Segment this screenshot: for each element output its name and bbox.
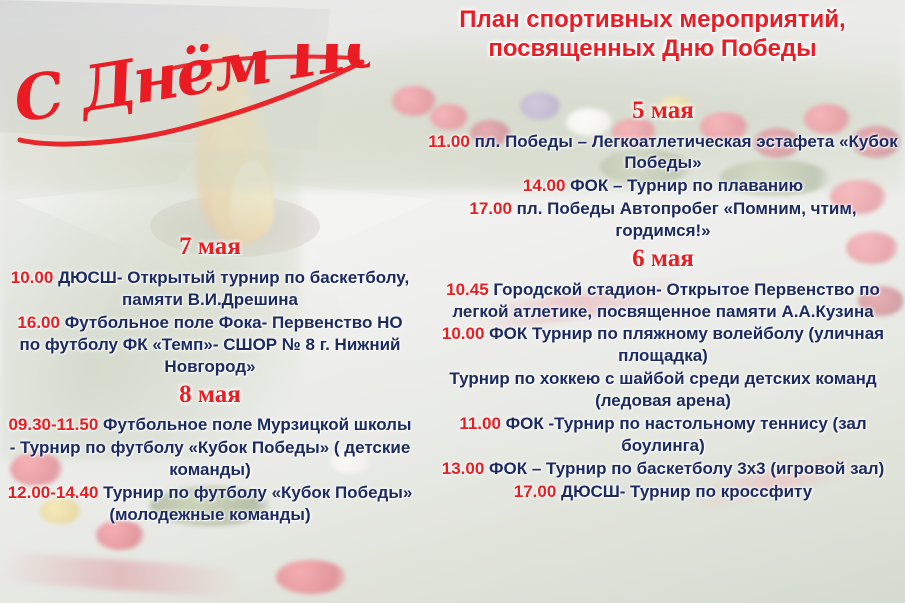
event-desc: пл. Победы – Легкоатлетическая эстафета … (470, 132, 898, 173)
event-item: 12.00-14.40 Турнир по футболу «Кубок Поб… (6, 482, 414, 526)
event-time: 17.00 (469, 199, 512, 218)
day-heading: 5 мая (424, 96, 902, 126)
event-desc: ФОК – Турнир по баскетболу 3х3 (игровой … (484, 459, 884, 478)
event-desc: Турнир по футболу «Кубок Победы» (молоде… (98, 483, 412, 524)
event-list: 09.30-11.50 Футбольное поле Мурзицкой шк… (6, 414, 414, 525)
event-list: 11.00 пл. Победы – Легкоатлетическая эст… (424, 131, 902, 243)
greeting-text: С Днём Победы (14, 44, 370, 137)
event-time: 10.00 (11, 268, 54, 287)
event-item: 17.00 пл. Победы Автопробег «Помним, чти… (424, 198, 902, 242)
event-item: 16.00 Футбольное поле Фока- Первенство Н… (6, 312, 414, 378)
event-time: 14.00 (523, 176, 566, 195)
event-item: 11.00 ФОК -Турнир по настольному теннису… (424, 413, 902, 457)
day-heading: 8 мая (6, 380, 414, 410)
day-heading: 7 мая (6, 232, 414, 262)
event-item: 11.00 пл. Победы – Легкоатлетическая эст… (424, 131, 902, 175)
event-time: 17.00 (514, 482, 557, 501)
day-block-7-may: 7 мая 10.00 ДЮСШ- Открытый турнир по бас… (6, 232, 414, 378)
event-time: 10.45 (446, 280, 489, 299)
event-desc: Футбольное поле Фока- Первенство НО по ф… (19, 313, 402, 376)
event-list: 10.45 Городской стадион- Открытое Первен… (424, 279, 902, 503)
event-item: 13.00 ФОК – Турнир по баскетболу 3х3 (иг… (424, 458, 902, 480)
event-time: 16.00 (17, 313, 60, 332)
event-time: 12.00-14.40 (8, 483, 99, 502)
event-desc: Городской стадион- Открытое Первенство п… (452, 280, 880, 321)
day-heading: 6 мая (424, 244, 902, 274)
event-item: Турнир по хоккею с шайбой среди детских … (424, 368, 902, 412)
event-item: 09.30-11.50 Футбольное поле Мурзицкой шк… (6, 414, 414, 480)
event-item: 17.00 ДЮСШ- Турнир по кроссфиту (424, 481, 902, 503)
event-desc: ДЮСШ- Турнир по кроссфиту (556, 482, 812, 501)
day-block-5-may: 5 мая 11.00 пл. Победы – Легкоатлетическ… (424, 96, 902, 242)
page-title: План спортивных мероприятий, посвященных… (405, 5, 900, 64)
victory-day-greeting-script: С Днём Победы (14, 44, 370, 156)
event-item: 10.00 ФОК Турнир по пляжному волейболу (… (424, 323, 902, 367)
event-desc: ДЮСШ- Открытый турнир по баскетболу, пам… (53, 268, 409, 309)
event-item: 10.45 Городской стадион- Открытое Первен… (424, 279, 902, 323)
event-desc: ФОК – Турнир по плаванию (565, 176, 803, 195)
schedule-column-right: 5 мая 11.00 пл. Победы – Легкоатлетическ… (424, 96, 902, 505)
event-item: 14.00 ФОК – Турнир по плаванию (424, 175, 902, 197)
title-line-2: посвященных Дню Победы (405, 34, 900, 63)
event-desc: пл. Победы Автопробег «Помним, чтим, гор… (512, 199, 857, 240)
event-time: 13.00 (442, 459, 485, 478)
day-block-8-may: 8 мая 09.30-11.50 Футбольное поле Мурзиц… (6, 380, 414, 526)
event-desc: Турнир по хоккею с шайбой среди детских … (449, 369, 876, 410)
event-item: 10.00 ДЮСШ- Открытый турнир по баскетбол… (6, 267, 414, 311)
title-line-1: План спортивных мероприятий, (405, 5, 900, 34)
day-block-6-may: 6 мая 10.45 Городской стадион- Открытое … (424, 244, 902, 503)
event-desc: ФОК -Турнир по настольному теннису (зал … (501, 414, 867, 455)
event-time: 11.00 (428, 132, 470, 151)
event-list: 10.00 ДЮСШ- Открытый турнир по баскетбол… (6, 267, 414, 378)
event-time: 10.00 (442, 324, 485, 343)
victory-day-sports-poster: С Днём Победы План спортивных мероприяти… (0, 0, 905, 603)
event-time: 11.00 (459, 414, 501, 433)
event-time: 09.30-11.50 (8, 415, 98, 434)
event-desc: ФОК Турнир по пляжному волейболу (улична… (484, 324, 884, 365)
schedule-column-left: 7 мая 10.00 ДЮСШ- Открытый турнир по бас… (6, 232, 414, 528)
